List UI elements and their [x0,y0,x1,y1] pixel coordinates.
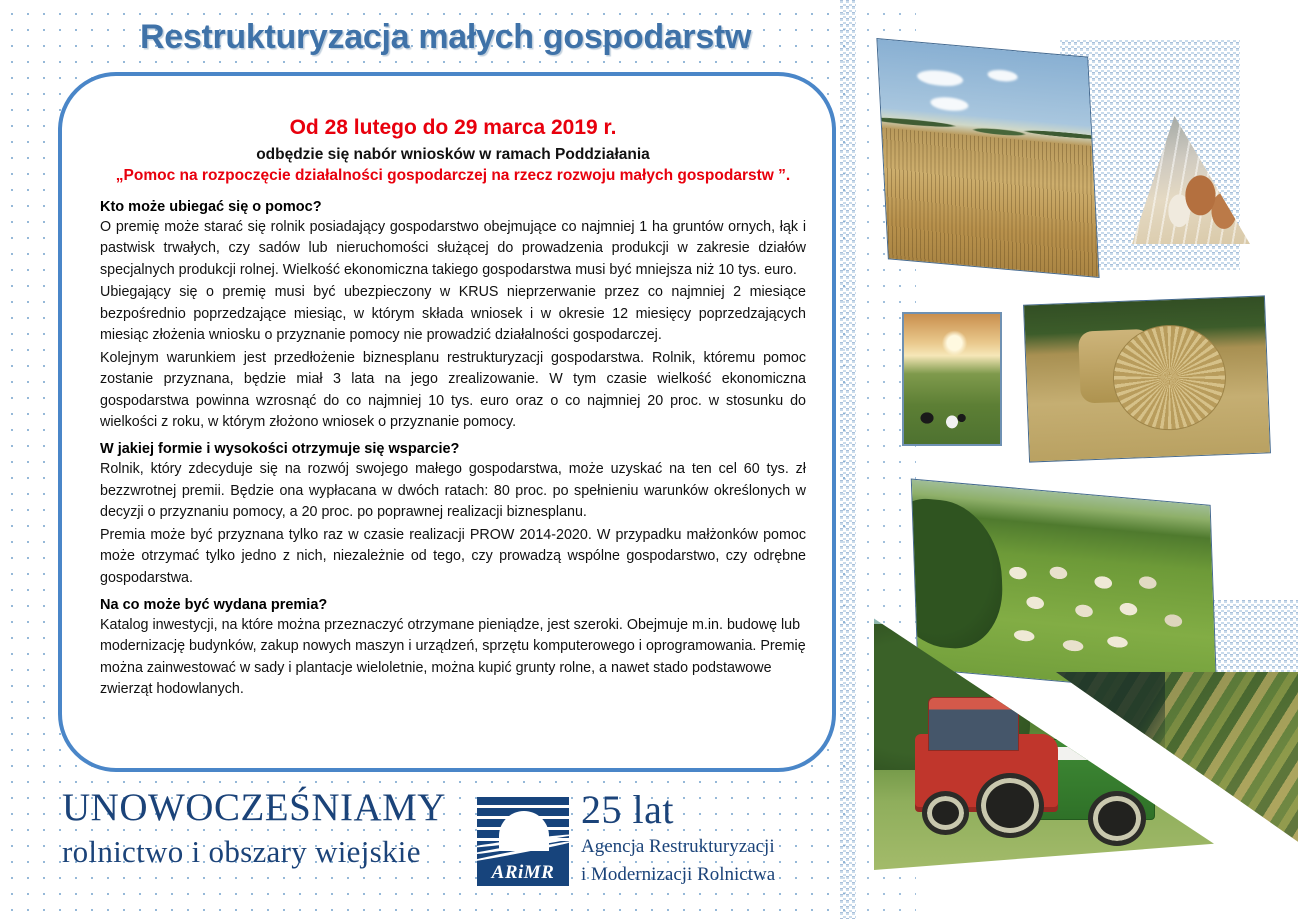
content-inner: Od 28 lutego do 29 marca 2019 r. odbędzi… [100,98,806,702]
footer: UNOWOCZEŚNIAMY rolnictwo i obszary wiejs… [62,788,822,908]
section-paragraph: Katalog inwestycji, na które można przez… [100,615,806,701]
section-heading-eligible-spending: Na co może być wydana premia? [100,597,806,613]
section-paragraph: Premia może być przyznana tylko raz w cz… [100,525,806,589]
wheat-field-photo [876,38,1099,278]
arimr-logo: ARiMR 25 lat Agencja Restrukturyzacji i … [477,790,827,900]
calves-barn-artwork [1132,116,1250,244]
cows-pasture-photo [902,312,1002,446]
announcement-date: Od 28 lutego do 29 marca 2019 r. [100,116,806,140]
section-heading-support-form: W jakiej formie i wysokości otrzymuje si… [100,441,806,457]
tractor-rear-wheel [976,773,1044,838]
tractor-cab-shape [928,697,1018,751]
announcement-subtitle: odbędzie się nabór wniosków w ramach Pod… [100,146,806,164]
section-paragraph: Kolejnym warunkiem jest przedłożenie biz… [100,348,806,434]
logo-mark-text: ARiMR [477,862,569,884]
section-paragraph: O premię może starać się rolnik posiadaj… [100,217,806,281]
baler-label-shape [1051,747,1105,760]
calves-barn-photo [1132,116,1250,244]
arimr-logo-mark-icon: ARiMR [477,794,569,886]
cows-pasture-artwork [904,314,1000,444]
logo-agency-line-1: Agencja Restrukturyzacji [581,835,831,858]
campaign-slogan: UNOWOCZEŚNIAMY rolnictwo i obszary wiejs… [62,788,482,870]
section-heading-eligibility: Kto może ubiegać się o pomoc? [100,199,806,215]
slogan-line-1: UNOWOCZEŚNIAMY [62,788,482,829]
slogan-line-2: rolnictwo i obszary wiejskie [62,833,482,870]
content-panel: Od 28 lutego do 29 marca 2019 r. odbędzi… [58,72,836,772]
photo-collage [856,0,1298,919]
logo-anniversary: 25 lat [581,790,831,830]
page-title: Restrukturyzacja małych gospodarstw [140,18,840,57]
logo-wordmark: 25 lat Agencja Restrukturyzacji i Modern… [581,790,831,886]
section-paragraph: Rolnik, który zdecyduje się na rozwój sw… [100,459,806,523]
logo-agency-line-2: i Modernizacji Rolnictwa [581,863,831,886]
announcement-programme: „Pomoc na rozpoczęcie działalności gospo… [100,167,806,185]
poster-root: Restrukturyzacja małych gospodarstw Od 2… [0,0,1298,919]
sheep-flock-photo [911,478,1217,695]
hay-bale-photo [1023,295,1271,462]
baler-wheel [1088,791,1146,846]
sheep-flock-shapes [998,559,1204,671]
section-paragraph: Ubiegający się o premię musi być ubezpie… [100,282,806,346]
